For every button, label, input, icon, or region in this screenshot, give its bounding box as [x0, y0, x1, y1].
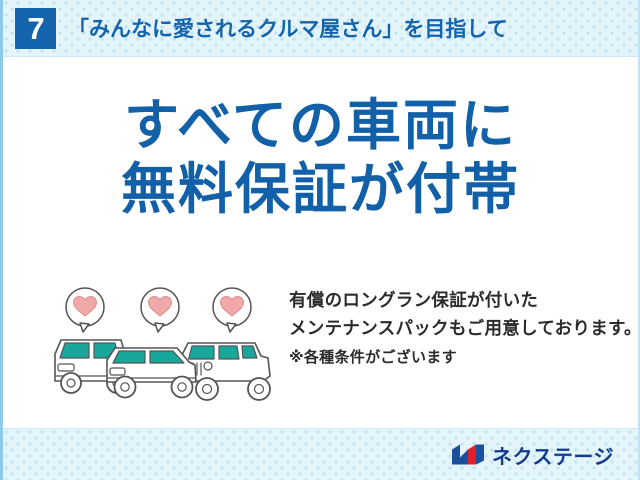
promo-banner: 7 「みんなに愛されるクルマ屋さん」を目指して すべての車両に 無料保証が付帯 [0, 0, 640, 480]
copy-note: ※各種条件がございます [289, 346, 640, 370]
copy-line-2: メンテナンスパックもご用意しております。 [289, 314, 640, 342]
cars-illustration [49, 286, 281, 402]
content-row: 有償のロングラン保証が付いた メンテナンスパックもご用意しております。 ※各種条… [3, 286, 638, 402]
section-number-badge: 7 [15, 8, 56, 49]
car-minivan [107, 348, 196, 398]
copy-line-1: 有償のロングラン保証が付いた [289, 286, 640, 314]
banner-footer: ネクステージ [3, 428, 638, 480]
brand-logo: ネクステージ [451, 440, 614, 469]
headline: すべての車両に 無料保証が付帯 [3, 96, 638, 219]
cars-illustration-svg [49, 286, 281, 402]
nexstage-n-icon [451, 443, 485, 467]
brand-name: ネクステージ [492, 440, 614, 469]
banner-header: 7 「みんなに愛されるクルマ屋さん」を目指して [3, 0, 638, 57]
headline-line-1: すべての車両に [3, 96, 638, 154]
heart-bubble-3 [213, 288, 251, 332]
header-title: 「みんなに愛されるクルマ屋さん」を目指して [68, 13, 508, 43]
headline-line-2: 無料保証が付帯 [3, 160, 638, 218]
heart-bubble-2 [141, 288, 179, 332]
heart-bubble-1 [66, 288, 104, 332]
copy-block: 有償のロングラン保証が付いた メンテナンスパックもご用意しております。 ※各種条… [289, 286, 640, 370]
